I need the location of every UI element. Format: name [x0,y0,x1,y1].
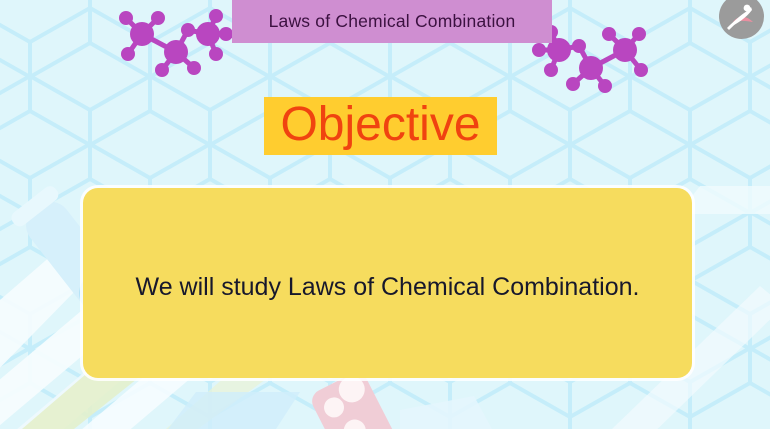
slide-title-text: Laws of Chemical Combination [269,11,516,32]
objective-heading-badge: Objective [264,97,497,155]
brand-logo-badge[interactable] [719,0,764,39]
brand-logo-icon [719,0,764,39]
objective-heading-text: Objective [280,101,480,149]
blue-block [168,392,492,429]
objective-content-text: We will study Laws of Chemical Combinati… [136,273,640,302]
objective-content-panel: We will study Laws of Chemical Combinati… [83,188,692,378]
slide-title-banner: Laws of Chemical Combination [232,0,552,43]
slide-canvas: Laws of Chemical Combination Objective W… [0,0,770,429]
molecule-icon-left [112,8,232,91]
